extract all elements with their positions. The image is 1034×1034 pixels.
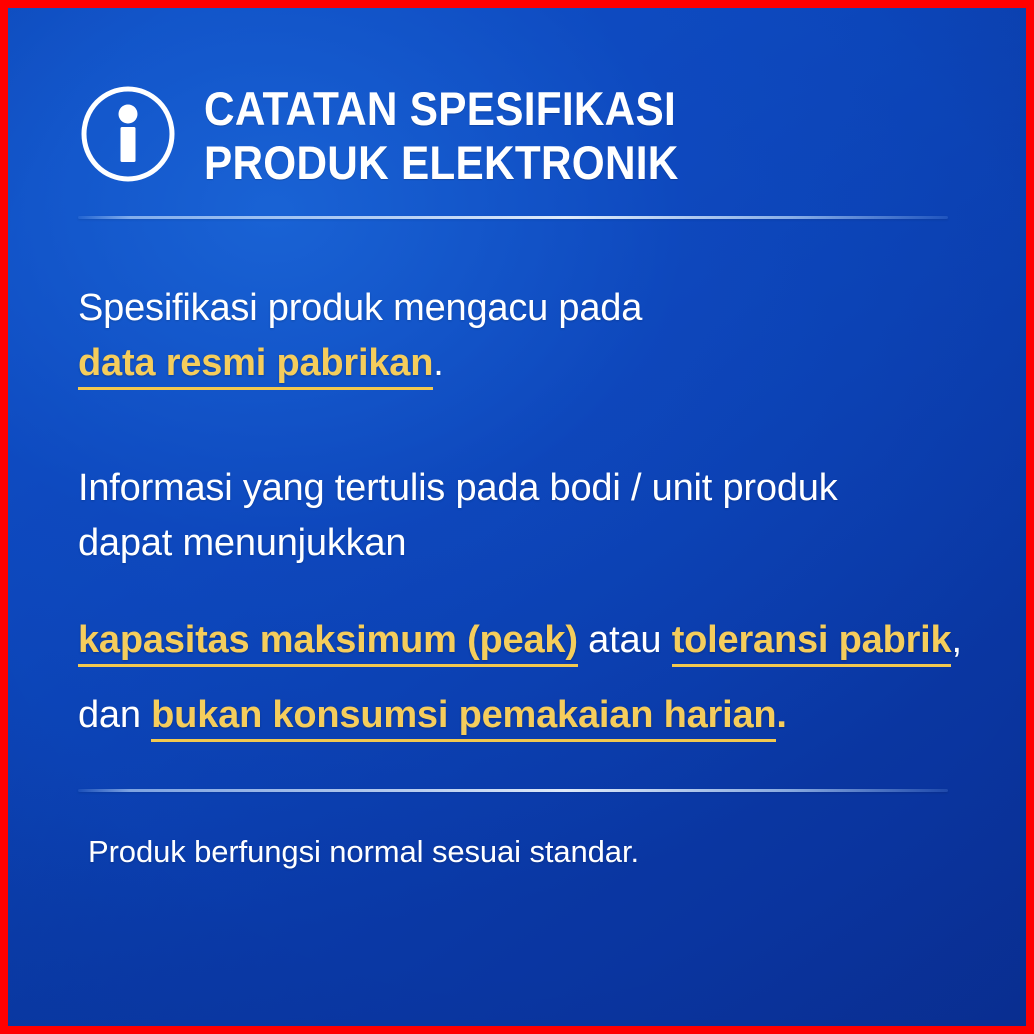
highlight-bukan-konsumsi-pemakaian-harian: bukan konsumsi pemakaian harian — [151, 694, 776, 742]
paragraph-bukan-konsumsi: dan bukan konsumsi pemakaian harian. — [78, 688, 964, 743]
divider-top — [78, 216, 948, 219]
poster-card: CATATAN SPESIFIKASI PRODUK ELEKTRONIK Sp… — [0, 0, 1034, 1034]
paragraph-3-line: kapasitas maksimum (peak) atau toleransi… — [78, 613, 964, 668]
paragraph-kapasitas: kapasitas maksimum (peak) atau toleransi… — [78, 613, 964, 668]
highlight-data-resmi-pabrikan: data resmi pabrikan — [78, 342, 433, 390]
info-circle-icon — [78, 84, 178, 184]
paragraph-4-period: . — [776, 694, 786, 736]
paragraph-3-connector: atau — [578, 619, 672, 661]
paragraph-2-line-1: Informasi yang tertulis pada bodi / unit… — [78, 461, 964, 516]
paragraph-3-comma: , — [951, 619, 961, 661]
poster-content: CATATAN SPESIFIKASI PRODUK ELEKTRONIK Sp… — [78, 78, 964, 1018]
paragraph-1-period: . — [433, 342, 443, 384]
poster-header: CATATAN SPESIFIKASI PRODUK ELEKTRONIK — [78, 78, 964, 200]
paragraph-1-line-2: data resmi pabrikan. — [78, 336, 964, 391]
highlight-kapasitas-maksimum-peak: kapasitas maksimum (peak) — [78, 619, 578, 667]
poster-title-block: CATATAN SPESIFIKASI PRODUK ELEKTRONIK — [204, 78, 731, 190]
paragraph-informasi: Informasi yang tertulis pada bodi / unit… — [78, 461, 964, 571]
page-title-line-1: CATATAN SPESIFIKASI — [204, 82, 679, 136]
paragraph-4-prefix: dan — [78, 694, 151, 736]
paragraph-spesifikasi: Spesifikasi produk mengacu pada data res… — [78, 281, 964, 391]
highlight-toleransi-pabrik: toleransi pabrik — [672, 619, 952, 667]
divider-bottom — [78, 789, 948, 792]
footer-note: Produk berfungsi normal sesuai standar. — [88, 832, 964, 872]
page-title-line-2: PRODUK ELEKTRONIK — [204, 136, 679, 190]
paragraph-2-line-2: dapat menunjukkan — [78, 516, 964, 571]
paragraph-1-line-1: Spesifikasi produk mengacu pada — [78, 281, 964, 336]
paragraph-4-line: dan bukan konsumsi pemakaian harian. — [78, 688, 964, 743]
